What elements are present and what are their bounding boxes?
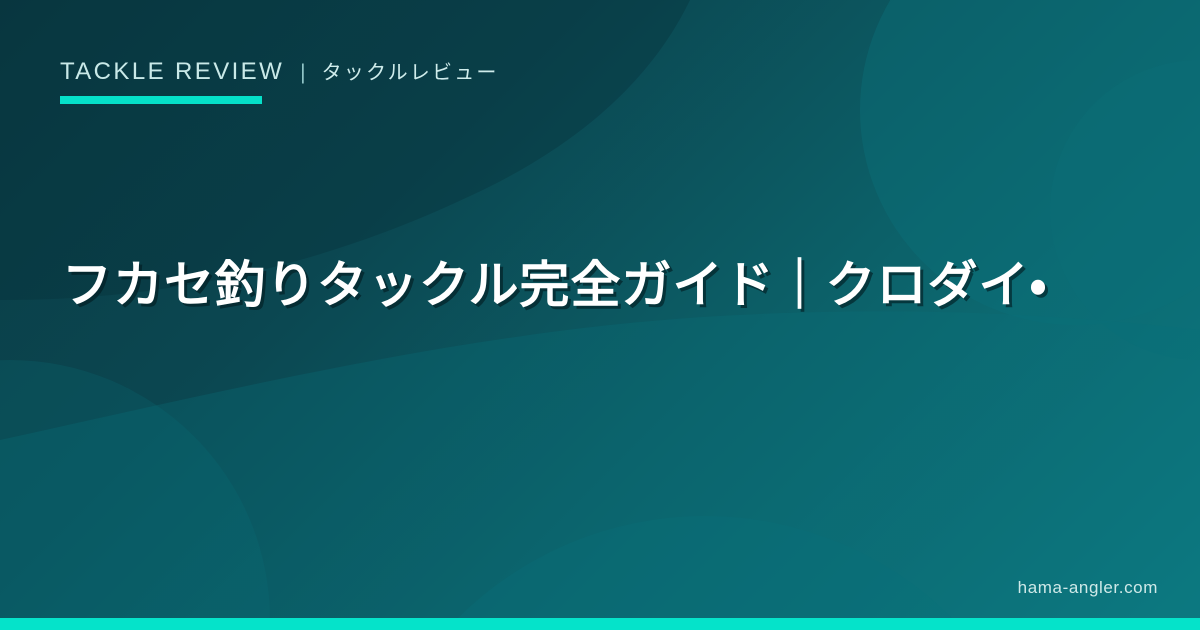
accent-underline <box>60 96 262 104</box>
category-label-en: TACKLE REVIEW <box>60 58 284 86</box>
site-domain: hama-angler.com <box>1018 578 1158 598</box>
ogp-card: TACKLE REVIEW | タックルレビュー フカセ釣りタックル完全ガイド｜… <box>0 0 1200 630</box>
category-label-ja: タックルレビュー <box>322 56 499 85</box>
category-separator: | <box>300 61 305 85</box>
category-eyebrow: TACKLE REVIEW | タックルレビュー <box>60 56 499 86</box>
page-title: フカセ釣りタックル完全ガイド｜クロダイ・ <box>62 252 1122 319</box>
bottom-accent-bar <box>0 618 1200 630</box>
card-content: TACKLE REVIEW | タックルレビュー フカセ釣りタックル完全ガイド｜… <box>0 0 1200 630</box>
